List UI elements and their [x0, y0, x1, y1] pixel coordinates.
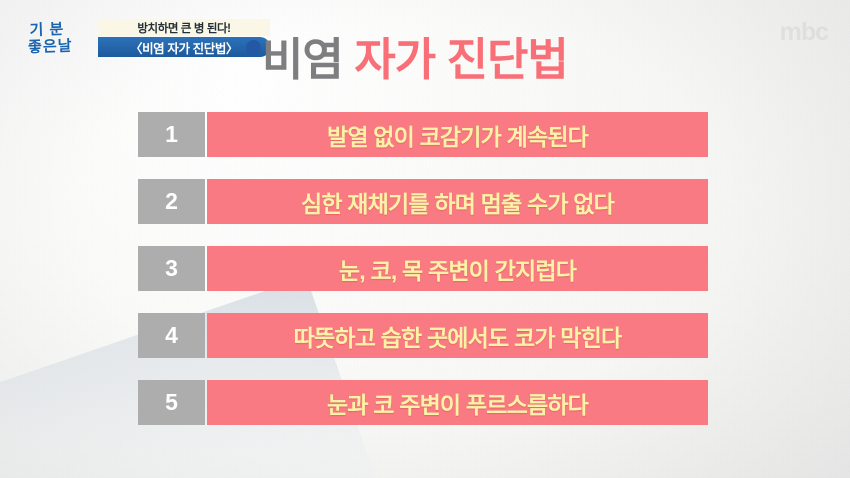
show-logo-line-1: 기 분 [27, 21, 93, 38]
self-diagnosis-checklist: 1 발열 없이 코감기가 계속된다 2 심한 재채기를 하며 멈출 수가 없다 … [138, 112, 708, 425]
list-item-text: 심한 재채기를 하며 멈출 수가 없다 [207, 179, 708, 224]
list-item-number: 1 [138, 112, 205, 157]
list-item-number: 4 [138, 313, 205, 358]
caption-subject-bar: 〈비염 자가 진단법〉 [98, 37, 270, 57]
caption-headline: 방치하면 큰 병 된다! [98, 19, 270, 36]
list-item: 3 눈, 코, 목 주변이 간지럽다 [138, 246, 708, 291]
list-item: 2 심한 재채기를 하며 멈출 수가 없다 [138, 179, 708, 224]
page-title: 비염 자가 진단법 [262, 36, 568, 83]
list-item-text: 눈과 코 주변이 푸르스름하다 [207, 380, 708, 425]
tv-broadcast-frame: mbc 기 분 좋은날 방치하면 큰 병 된다! 〈비염 자가 진단법〉 비염 … [0, 0, 850, 478]
list-item-number: 2 [138, 179, 205, 224]
list-item-text: 발열 없이 코감기가 계속된다 [207, 112, 708, 157]
list-item: 5 눈과 코 주변이 푸르스름하다 [138, 380, 708, 425]
topic-caption: 방치하면 큰 병 된다! 〈비염 자가 진단법〉 [98, 19, 270, 57]
channel-watermark: mbc [780, 18, 828, 47]
show-logo-line-2: 좋은날 [28, 38, 94, 55]
list-item-number: 5 [138, 380, 205, 425]
page-title-gray: 비염 [262, 34, 354, 85]
list-item: 1 발열 없이 코감기가 계속된다 [138, 112, 708, 157]
list-item-text: 따뜻하고 습한 곳에서도 코가 막힌다 [207, 313, 708, 358]
list-item-number: 3 [138, 246, 205, 291]
list-item-text: 눈, 코, 목 주변이 간지럽다 [207, 246, 708, 291]
heading-bullet-dot [246, 40, 261, 55]
show-logo: 기 분 좋은날 [27, 21, 94, 65]
list-item: 4 따뜻하고 습한 곳에서도 코가 막힌다 [138, 313, 708, 358]
page-title-pink: 자가 진단법 [354, 34, 568, 85]
